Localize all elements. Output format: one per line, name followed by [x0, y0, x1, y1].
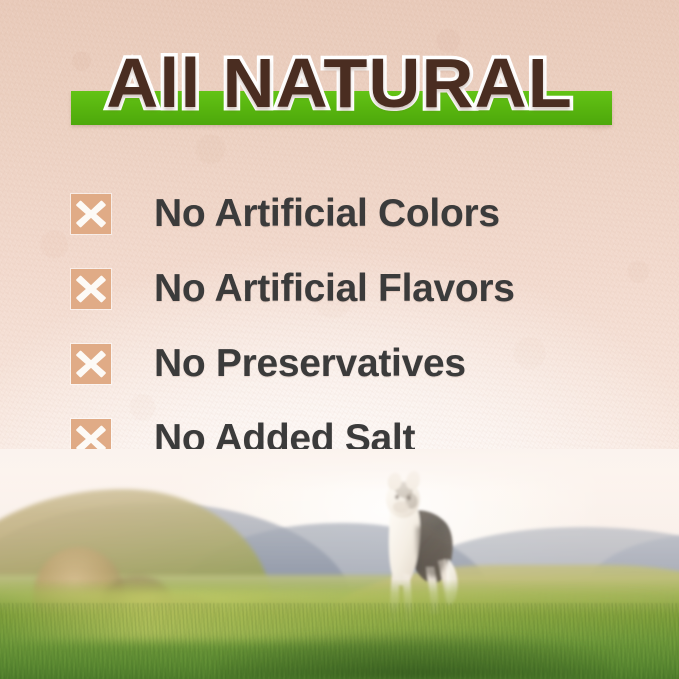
x-mark-icon	[71, 269, 111, 309]
x-mark-icon	[71, 344, 111, 384]
claims-list: No Artificial Colors No Artificial Flavo…	[71, 176, 631, 476]
foreground-grass	[0, 579, 679, 679]
headline-banner: All NATURAL	[0, 44, 679, 140]
list-item: No Preservatives	[71, 326, 631, 401]
claim-label: No Preservatives	[154, 343, 466, 385]
claim-label: No Artificial Colors	[154, 193, 500, 235]
landscape-photo	[0, 449, 679, 679]
x-mark-icon	[71, 194, 111, 234]
list-item: No Artificial Flavors	[71, 251, 631, 326]
page-title: All NATURAL	[0, 44, 679, 122]
list-item: No Artificial Colors	[71, 176, 631, 251]
product-feature-poster: All NATURAL No Artificial Colors No Arti…	[0, 0, 679, 679]
claim-label: No Artificial Flavors	[154, 268, 515, 310]
